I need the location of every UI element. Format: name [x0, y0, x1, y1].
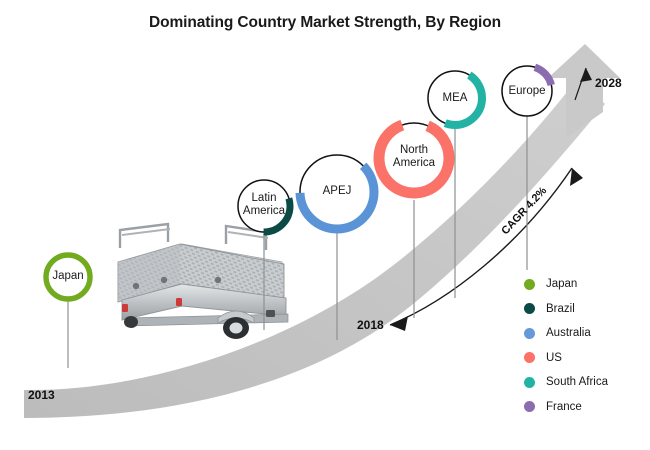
- legend-swatch-icon: [524, 401, 535, 412]
- region-ring-latin-america[interactable]: [238, 180, 290, 330]
- legend-label: South Africa: [546, 376, 608, 388]
- legend-label: Japan: [546, 278, 577, 290]
- legend-item-brazil[interactable]: Brazil: [524, 297, 644, 322]
- region-ring-europe[interactable]: [502, 66, 552, 270]
- legend-swatch-icon: [524, 303, 535, 314]
- year-label-2028: 2028: [595, 76, 622, 90]
- region-ring-apej[interactable]: [300, 155, 374, 340]
- legend-swatch-icon: [524, 377, 535, 388]
- legend-item-japan[interactable]: Japan: [524, 272, 644, 297]
- legend-item-australia[interactable]: Australia: [524, 321, 644, 346]
- year-label-2018: 2018: [357, 318, 384, 332]
- legend-label: US: [546, 352, 562, 364]
- legend-item-us[interactable]: US: [524, 346, 644, 371]
- legend-swatch-icon: [524, 328, 535, 339]
- legend-swatch-icon: [524, 279, 535, 290]
- year-label-2013: 2013: [28, 388, 55, 402]
- legend-label: Brazil: [546, 303, 575, 315]
- legend-label: Australia: [546, 327, 591, 339]
- legend: Japan Brazil Australia US South Africa F…: [524, 272, 644, 419]
- region-ring-japan[interactable]: [46, 255, 90, 368]
- legend-item-south-africa[interactable]: South Africa: [524, 370, 644, 395]
- infographic-canvas: Dominating Country Market Strength, By R…: [0, 0, 650, 450]
- legend-label: France: [546, 401, 582, 413]
- region-ring-north-america[interactable]: [379, 123, 449, 318]
- legend-item-france[interactable]: France: [524, 395, 644, 420]
- legend-swatch-icon: [524, 352, 535, 363]
